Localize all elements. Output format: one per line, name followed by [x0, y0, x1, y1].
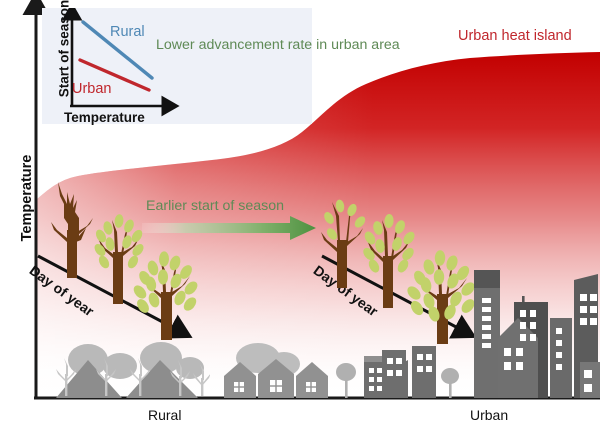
urban-heat-island-label: Urban heat island	[458, 28, 572, 44]
inset-x-axis-label: Temperature	[64, 110, 145, 125]
y-axis-label: Temperature	[19, 143, 35, 253]
x-axis-tick-rural: Rural	[148, 407, 181, 423]
tree-full-left	[130, 248, 204, 340]
rural-landscape	[48, 338, 210, 398]
figure-canvas: Temperature Rural Urban Start of season …	[0, 0, 600, 433]
inset-legend-rural: Rural	[110, 24, 145, 40]
inset-y-axis-label: Start of season	[57, 0, 72, 102]
inset-chart	[42, 8, 312, 124]
inset-legend-urban: Urban	[72, 81, 112, 97]
x-axis-tick-urban: Urban	[470, 407, 508, 423]
inset-note-text: Lower advancement rate in urban area	[156, 36, 306, 54]
earlier-start-of-season-arrow	[140, 216, 320, 242]
urban-midrise-buildings	[378, 336, 466, 398]
urban-skyline	[470, 258, 600, 398]
suburban-landscape	[218, 340, 338, 398]
earlier-start-of-season-label: Earlier start of season	[146, 198, 284, 214]
